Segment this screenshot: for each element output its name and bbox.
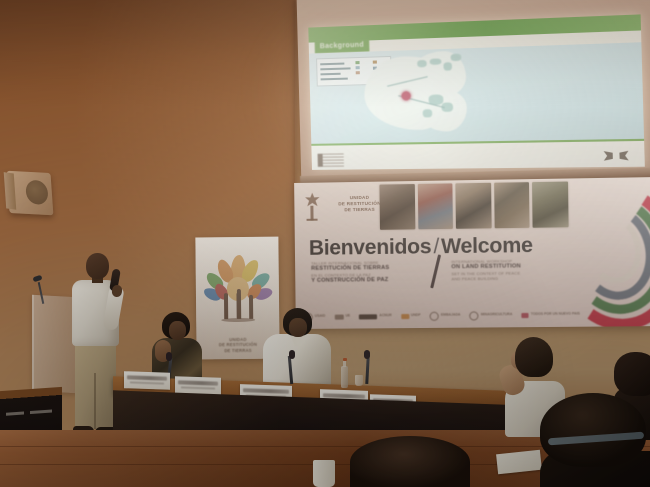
banner-headline-english: Welcome <box>441 234 533 258</box>
desk-microphone-icon <box>289 350 295 359</box>
presenter-leg-split <box>94 373 96 429</box>
banner-photo <box>494 182 530 228</box>
drinking-glass <box>355 375 363 386</box>
sponsor-logo: UE <box>334 312 350 321</box>
banner-subtitle-spanish: TALLER INTERNACIONAL SOBRE RESTITUCIÓN D… <box>311 259 432 284</box>
presenter-head <box>86 253 109 279</box>
sponsor-logo: EMBAJADA <box>430 311 461 320</box>
sponsor-logo: MINAGRICULTURA <box>470 311 513 320</box>
sponsor-logo: TODOS POR UN NUEVO PAIS <box>522 310 580 320</box>
side-table-drawer-handles <box>6 410 52 416</box>
panelist-face <box>289 318 307 337</box>
event-welcome-banner: UNIDAD DE RESTITUCIÓN DE TIERRAS Bienven… <box>294 177 650 329</box>
bottle-neck <box>343 361 346 367</box>
land-restitution-unit-logo-icon <box>302 193 322 221</box>
slide-map-graphic <box>355 48 485 139</box>
audience-hair <box>614 352 650 396</box>
audience-hair <box>515 337 553 377</box>
banner-sponsor-logos: USAID UE ACNUR UNDP EMBAJADA MINAGRICULT… <box>304 306 650 325</box>
banner-photo <box>417 183 453 229</box>
wall-speaker-icon <box>7 171 54 216</box>
desk-microphone-icon <box>166 352 172 361</box>
slide-footer-right-logo-icon <box>604 150 629 163</box>
slide-footer <box>311 139 645 170</box>
audience-member <box>350 436 470 487</box>
banner-photo <box>456 183 492 229</box>
projected-slide: Background <box>308 14 645 170</box>
speaker-bracket <box>4 172 17 210</box>
panelist-face <box>169 321 186 340</box>
slide-footer-left-logo-icon <box>318 153 344 166</box>
conference-room-photo: Background <box>0 0 650 487</box>
sponsor-logo: UNDP <box>401 311 421 320</box>
slide-body <box>309 42 644 146</box>
bottle-cap <box>343 358 347 361</box>
speaker-cone <box>25 180 49 205</box>
banner-headline-spanish: Bienvenidos <box>309 235 432 260</box>
water-bottle <box>341 366 348 388</box>
slide-top-bar <box>308 14 641 42</box>
paper-cup <box>313 460 335 487</box>
audience-hair <box>350 436 470 487</box>
banner-photo <box>379 184 415 230</box>
sponsor-logo: ACNUR <box>359 312 392 321</box>
projection-screen: Background <box>297 0 650 182</box>
desk-microphone-icon <box>364 350 370 359</box>
name-placard <box>124 371 170 390</box>
audience-member <box>540 393 650 487</box>
audience-hair <box>540 393 646 467</box>
banner-headline: Bienvenidos/Welcome <box>309 234 533 261</box>
